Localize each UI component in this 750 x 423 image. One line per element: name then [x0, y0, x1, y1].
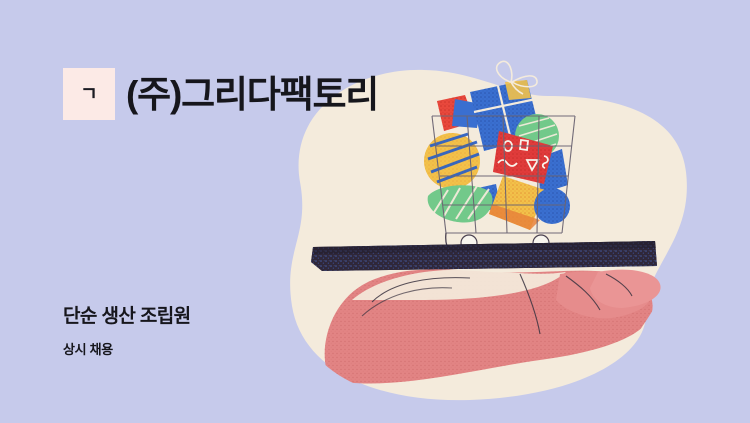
job-title: 단순 생산 조립원	[63, 306, 191, 329]
company-name: (주)그리다팩토리	[126, 72, 378, 118]
company-logo-badge: ㄱ	[63, 68, 115, 120]
illustration-hand-holding-shopping-basket	[0, 0, 750, 423]
recruitment-banner: ㄱ (주)그리다팩토리 단순 생산 조립원 상시 채용	[0, 0, 750, 423]
company-logo-char: ㄱ	[80, 85, 97, 104]
hiring-status: 상시 채용	[63, 342, 113, 358]
